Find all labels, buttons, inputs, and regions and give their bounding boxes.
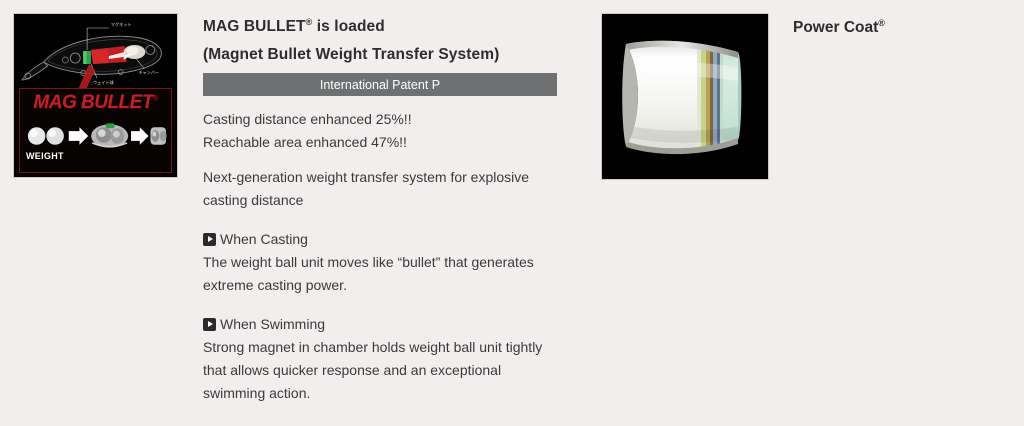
section-when-casting-body: The weight ball unit moves like “bullet”… [203, 251, 565, 297]
power-coat-cross-section-svg [602, 14, 768, 179]
headline-line-2: (Magnet Bullet Weight Transfer System) [203, 41, 565, 69]
registered-mark: ® [153, 96, 158, 103]
power-coat-image [601, 13, 769, 180]
mag-bullet-diagram-image: マグネット ウェイト球 チャンバー MAG BULLET® [13, 13, 178, 178]
stat-casting-distance: Casting distance enhanced 25%!! [203, 108, 565, 131]
svg-text:マグネット: マグネット [111, 21, 132, 27]
svg-text:チャンバー: チャンバー [138, 70, 159, 75]
patent-banner: International Patent P [203, 73, 557, 96]
product-feature-panel: マグネット ウェイト球 チャンバー MAG BULLET® [0, 0, 1024, 426]
weight-transfer-svg [24, 119, 167, 153]
mag-bullet-wordmark: MAG BULLET® [20, 92, 171, 114]
mag-bullet-wordmark-panel: MAG BULLET® [19, 88, 172, 173]
section-when-casting-label: When Casting [220, 228, 308, 251]
stats-block: Casting distance enhanced 25%!! Reachabl… [203, 108, 565, 154]
patent-banner-text: International Patent P [320, 78, 440, 92]
section-when-casting: When Casting The weight ball unit moves … [203, 228, 565, 297]
play-triangle-icon [203, 233, 216, 246]
power-coat-title: Power Coat® [793, 19, 885, 37]
lead-paragraph: Next-generation weight transfer system f… [203, 166, 565, 212]
stat-reachable-area: Reachable area enhanced 47%!! [203, 131, 565, 154]
section-when-swimming: When Swimming Strong magnet in chamber h… [203, 313, 565, 405]
section-when-swimming-label: When Swimming [220, 313, 325, 336]
play-triangle-icon [203, 318, 216, 331]
registered-mark: ® [878, 18, 885, 28]
section-when-swimming-heading: When Swimming [203, 313, 565, 336]
section-when-casting-heading: When Casting [203, 228, 565, 251]
lure-xray-svg: マグネット ウェイト球 チャンバー [14, 14, 177, 96]
svg-text:ウェイト球: ウェイト球 [93, 79, 114, 85]
headline-line-1: MAG BULLET® is loaded [203, 13, 565, 41]
section-when-swimming-body: Strong magnet in chamber holds weight ba… [203, 336, 565, 405]
page-title: MAG BULLET® is loaded (Magnet Bullet Wei… [203, 13, 565, 69]
weight-label: WEIGHT [26, 151, 64, 161]
weight-transfer-sequence [24, 119, 167, 153]
feature-text-column: MAG BULLET® is loaded (Magnet Bullet Wei… [203, 13, 565, 405]
lure-xray-illustration: マグネット ウェイト球 チャンバー [14, 14, 177, 96]
